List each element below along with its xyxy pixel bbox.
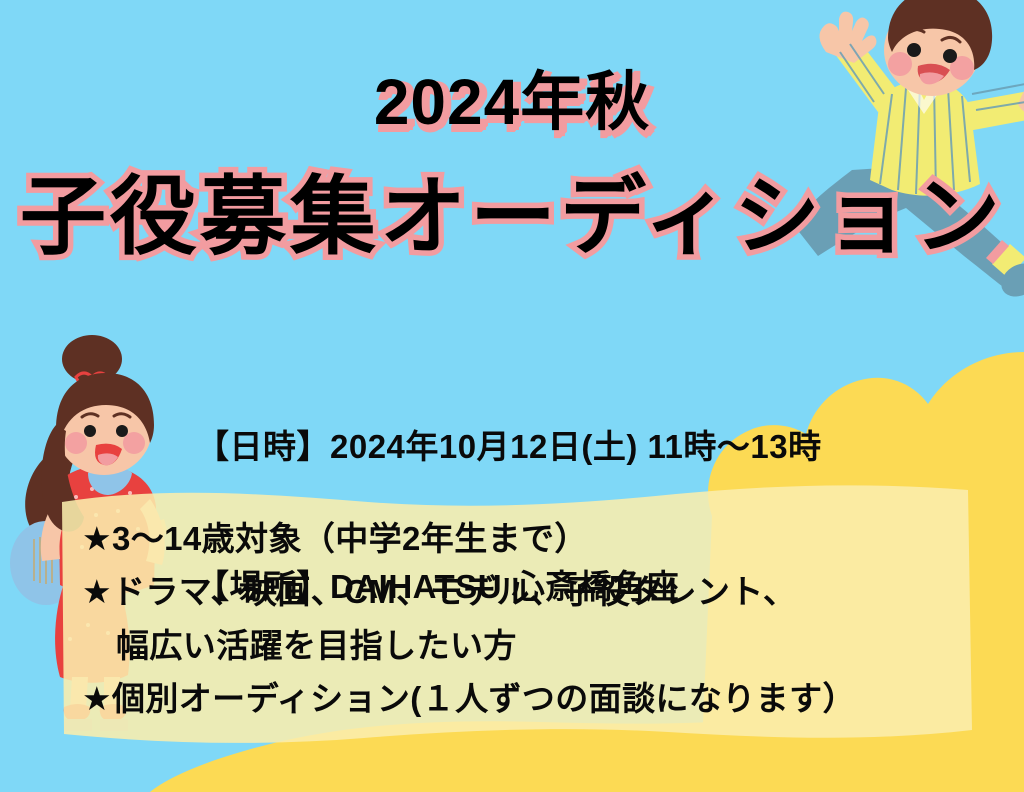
detail-line-datetime: 【日時】2024年10月12日(土) 11時〜13時: [196, 424, 822, 471]
requirement-format: ★個別オーディション(１人ずつの面談になります）: [82, 672, 982, 725]
requirement-age: ★3〜14歳対象（中学2年生まで）: [82, 512, 982, 565]
girl-cheek-right: [123, 432, 145, 454]
poster-canvas: 2024年秋 子役募集オーディション 【日時】2024年10月12日(土) 11…: [0, 0, 1024, 792]
boy-eye-right: [943, 49, 957, 63]
girl-cheek-left: [65, 432, 87, 454]
requirements-list: ★3〜14歳対象（中学2年生まで） ★ドラマ、映画、CM、モデル、子役タレント、…: [82, 512, 982, 726]
requirement-fields: ★ドラマ、映画、CM、モデル、子役タレント、: [82, 565, 982, 618]
boy-eye-left: [907, 43, 921, 57]
boy-waving-illustration: [796, 0, 1024, 314]
girl-eye-left: [84, 425, 96, 437]
girl-eye-right: [116, 425, 128, 437]
headline-main-title: 子役募集オーディション: [0, 170, 1024, 265]
requirement-fields-continued: 幅広い活躍を目指したい方: [82, 619, 982, 672]
headline-year: 2024年秋: [0, 70, 1024, 134]
